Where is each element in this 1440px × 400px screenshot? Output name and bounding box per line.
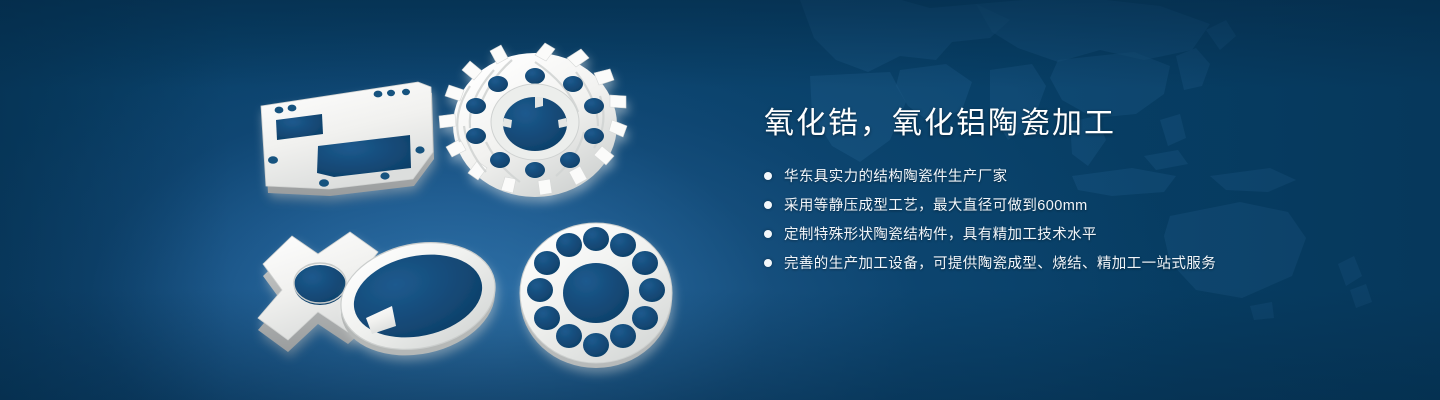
bullet-dot-icon <box>764 230 772 238</box>
bullet-dot-icon <box>764 201 772 209</box>
list-item-label: 完善的生产加工设备，可提供陶瓷成型、烧结、精加工一站式服务 <box>784 252 1216 273</box>
ceramic-products-image <box>0 0 720 400</box>
list-item-label: 定制特殊形状陶瓷结构件，具有精加工技术水平 <box>784 223 1097 244</box>
ceramic-processing-banner: 氧化锆，氧化铝陶瓷加工 华东具实力的结构陶瓷件生产厂家 采用等静压成型工艺，最大… <box>0 0 1440 400</box>
list-item-label: 采用等静压成型工艺，最大直径可做到600mm <box>784 194 1088 215</box>
list-item: 华东具实力的结构陶瓷件生产厂家 <box>764 165 1404 186</box>
list-item: 定制特殊形状陶瓷结构件，具有精加工技术水平 <box>764 223 1404 244</box>
bullet-dot-icon <box>764 259 772 267</box>
banner-copy: 氧化锆，氧化铝陶瓷加工 华东具实力的结构陶瓷件生产厂家 采用等静压成型工艺，最大… <box>764 104 1404 281</box>
ceramic-impeller-part <box>439 43 627 197</box>
ceramic-perforated-disc-part <box>520 223 672 368</box>
feature-list: 华东具实力的结构陶瓷件生产厂家 采用等静压成型工艺，最大直径可做到600mm 定… <box>764 165 1404 273</box>
page-title: 氧化锆，氧化铝陶瓷加工 <box>764 104 1404 143</box>
list-item-label: 华东具实力的结构陶瓷件生产厂家 <box>784 165 1008 186</box>
list-item: 采用等静压成型工艺，最大直径可做到600mm <box>764 194 1404 215</box>
bullet-dot-icon <box>764 172 772 180</box>
list-item: 完善的生产加工设备，可提供陶瓷成型、烧结、精加工一站式服务 <box>764 252 1404 273</box>
ceramic-plate-part <box>261 82 434 196</box>
